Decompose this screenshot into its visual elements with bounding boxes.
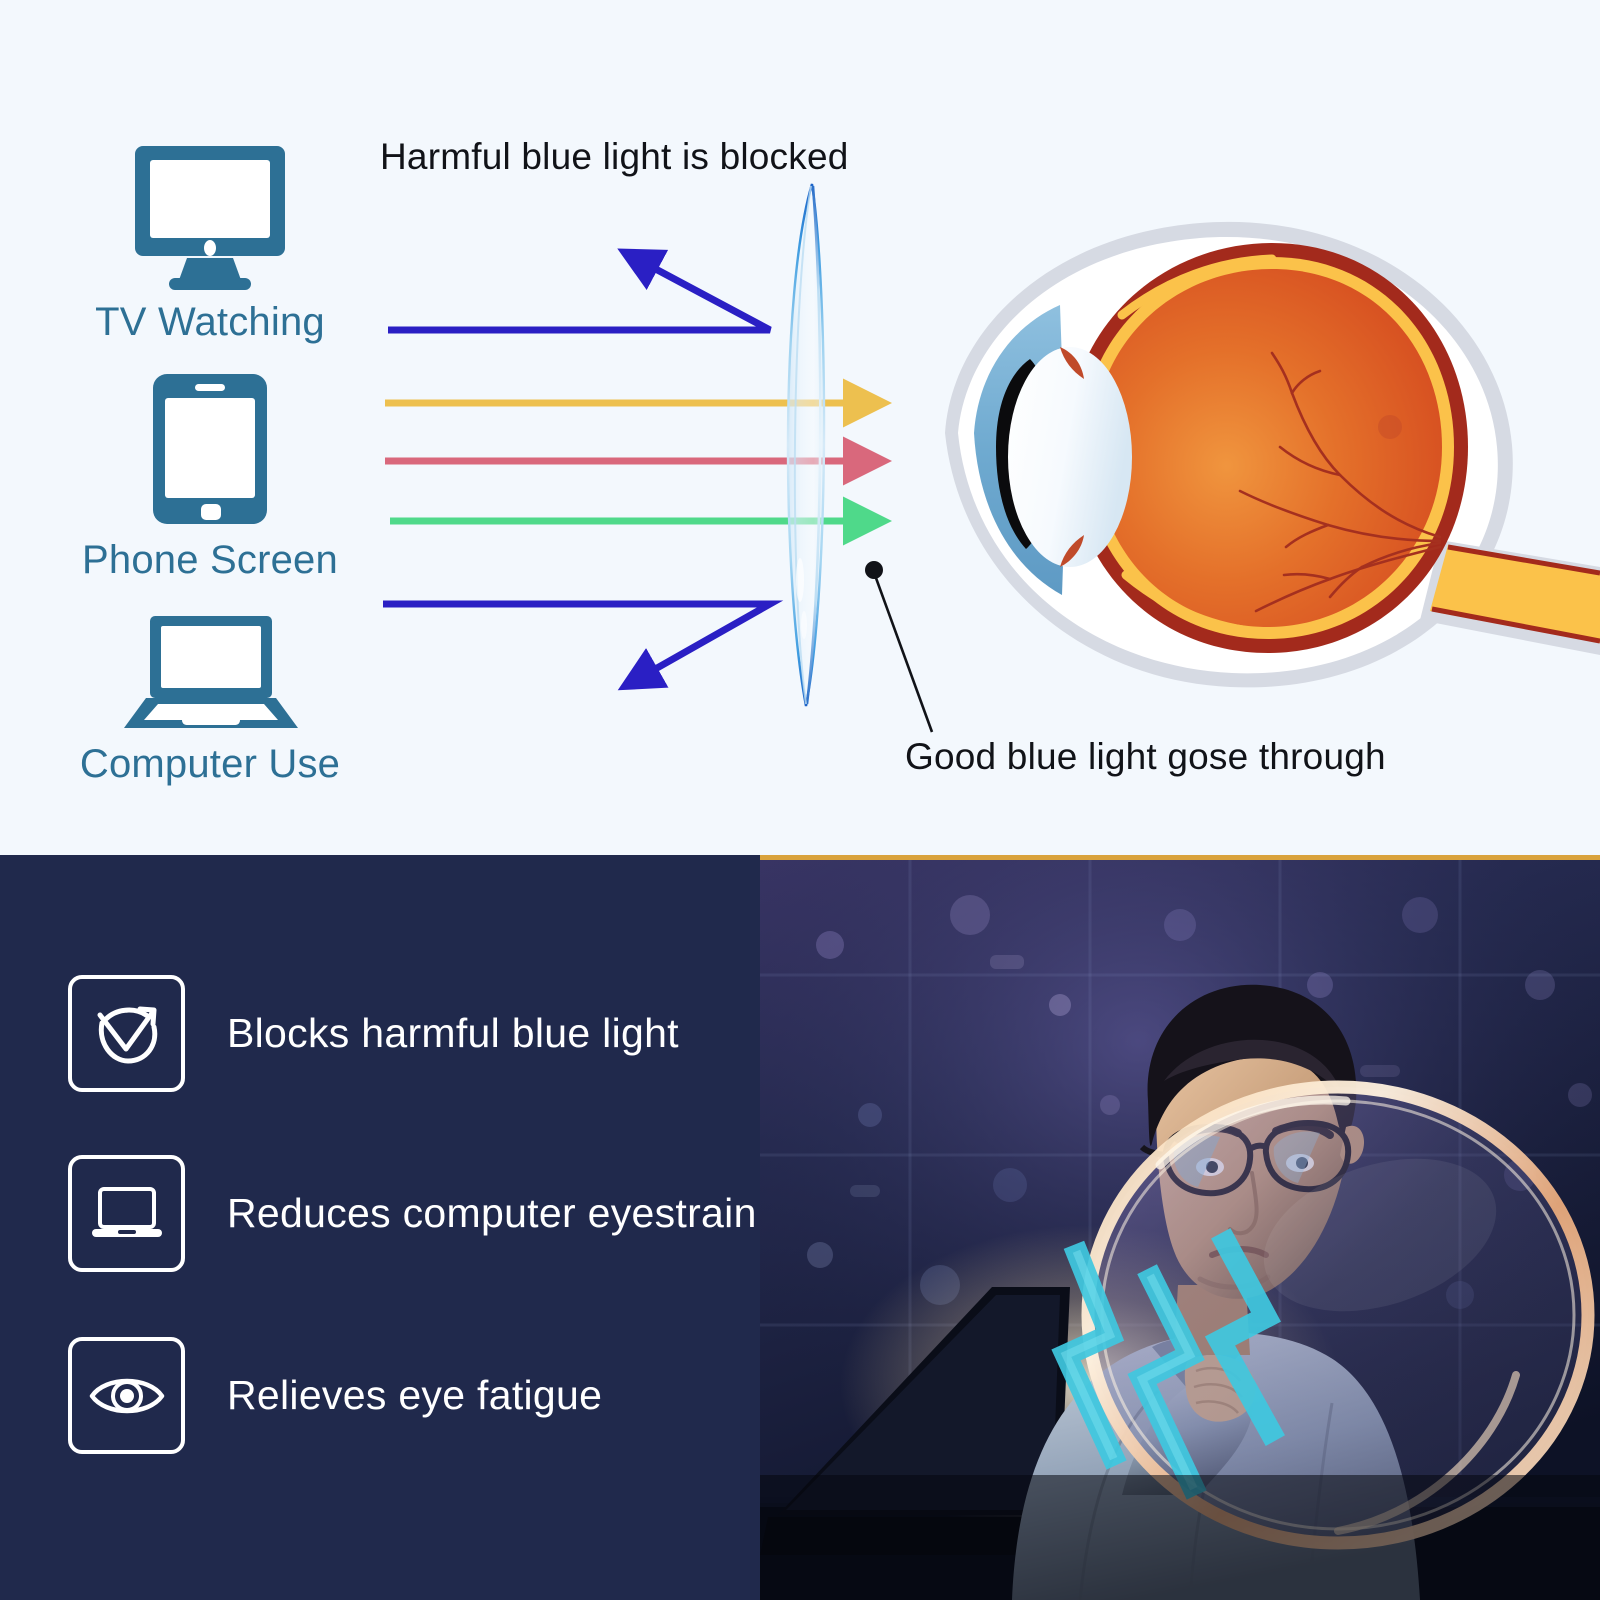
feature-label-0: Blocks harmful blue light (227, 1010, 679, 1057)
feature-item-blocks-blue-light: Blocks harmful blue light (68, 975, 679, 1092)
check-refresh-icon (88, 995, 166, 1073)
eye-icon (86, 1368, 168, 1424)
blue-light-blocking-lens (760, 180, 850, 710)
feature-label-1: Reduces computer eyestrain (227, 1190, 757, 1237)
source-label-tv: TV Watching (0, 300, 420, 345)
feature-item-relieves-fatigue: Relieves eye fatigue (68, 1337, 602, 1454)
blocked-ray-top (388, 266, 770, 330)
source-label-phone: Phone Screen (0, 538, 420, 583)
infographic-page: Harmful blue light is blocked Good blue … (0, 0, 1600, 1600)
optic-nerve (1420, 540, 1600, 655)
monitor-icon (125, 140, 295, 290)
laptop-icon (120, 612, 300, 732)
feature-icon-box-2 (68, 1337, 185, 1454)
photo-content (760, 855, 1600, 1600)
laptop-icon (88, 1183, 166, 1245)
feature-item-reduces-eyestrain: Reduces computer eyestrain (68, 1155, 757, 1272)
source-label-computer: Computer Use (0, 742, 420, 787)
smartphone-icon (145, 370, 275, 528)
vitreous-body (1094, 269, 1442, 627)
feature-icon-box-0 (68, 975, 185, 1092)
bottom-features-panel: Blocks harmful blue light Reduces comput… (0, 855, 1600, 1600)
source-computer-use: Computer Use (0, 612, 420, 787)
source-tv-watching: TV Watching (0, 140, 420, 345)
feature-label-2: Relieves eye fatigue (227, 1372, 602, 1419)
top-diagram-panel: Harmful blue light is blocked Good blue … (0, 0, 1600, 855)
blocked-ray-bottom (383, 604, 770, 672)
crystalline-lens (1008, 347, 1132, 567)
leader-dot (865, 561, 883, 579)
leader-line-good-light (840, 550, 1020, 770)
features-list: Blocks harmful blue light Reduces comput… (0, 855, 760, 1600)
man-at-laptop-night-photo (760, 855, 1600, 1600)
feature-icon-box-1 (68, 1155, 185, 1272)
source-phone-screen: Phone Screen (0, 370, 420, 583)
macula-spot (1378, 415, 1402, 439)
photo-gold-edge (760, 855, 1600, 860)
